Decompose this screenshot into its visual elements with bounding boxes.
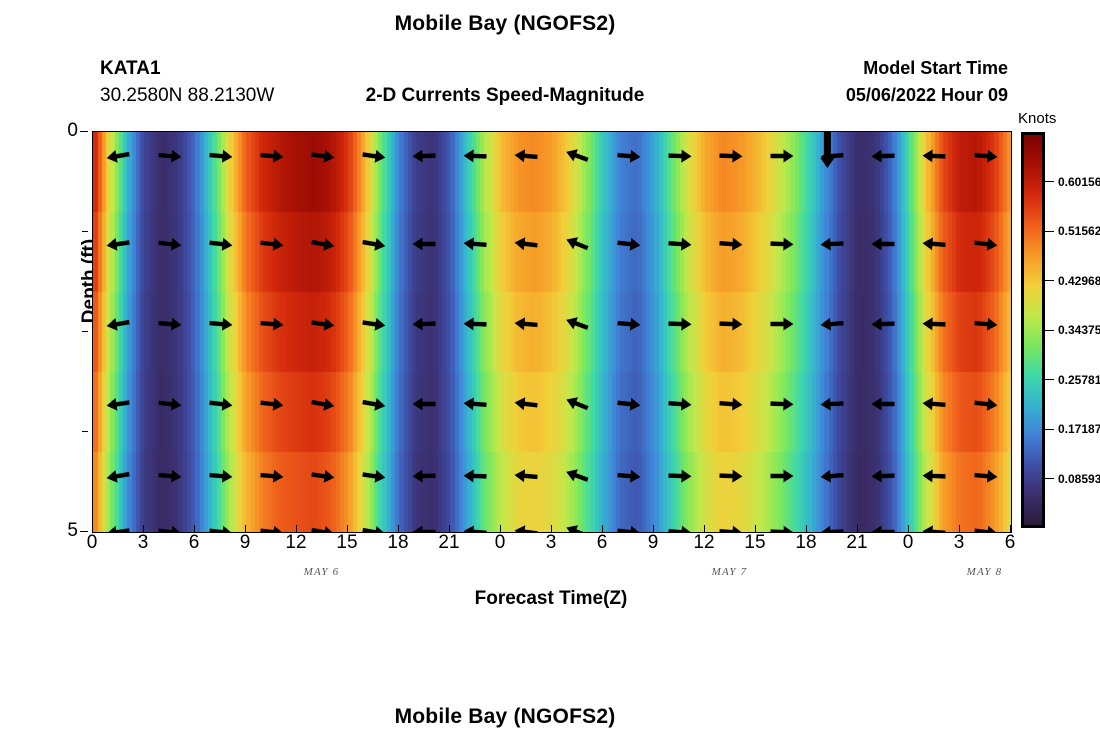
x-tick-label: 9 bbox=[648, 532, 659, 554]
x-tick-mark bbox=[143, 525, 144, 532]
current-vector-arrow bbox=[770, 525, 793, 532]
colorbar-tick-mark bbox=[1045, 379, 1054, 380]
current-vector-arrow bbox=[413, 238, 436, 251]
arrow-glyph bbox=[922, 525, 946, 532]
arrow-glyph bbox=[514, 148, 538, 163]
current-vector-arrow bbox=[974, 524, 998, 532]
arrow-glyph bbox=[564, 521, 590, 532]
current-vector-arrow bbox=[820, 525, 844, 532]
current-vector-arrow bbox=[922, 237, 946, 252]
current-vector-arrow bbox=[514, 148, 538, 163]
current-vector-arrow bbox=[564, 314, 590, 334]
arrow-glyph bbox=[106, 396, 131, 412]
x-axis-day-labels: MAY 6MAY 7MAY 8 bbox=[92, 566, 1010, 582]
current-vector-arrow bbox=[617, 524, 641, 532]
current-vector-arrow bbox=[771, 150, 794, 163]
arrow-glyph bbox=[514, 396, 538, 412]
current-vector-arrow bbox=[158, 396, 182, 412]
arrow-glyph bbox=[106, 316, 131, 333]
current-vector-arrow bbox=[209, 396, 233, 412]
current-vector-arrow bbox=[362, 524, 387, 532]
arrow-glyph bbox=[412, 149, 435, 163]
current-vector-arrow bbox=[209, 236, 233, 252]
arrow-glyph bbox=[820, 469, 844, 484]
arrow-glyph bbox=[463, 469, 486, 483]
arrow-glyph bbox=[719, 317, 742, 331]
arrow-glyph bbox=[668, 149, 691, 163]
current-vector-arrow bbox=[820, 397, 844, 411]
current-vector-arrow bbox=[564, 393, 590, 414]
current-vector-arrow bbox=[872, 398, 895, 411]
arrow-glyph bbox=[668, 525, 692, 532]
arrow-glyph bbox=[771, 150, 794, 163]
arrow-glyph bbox=[106, 468, 131, 485]
current-vector-arrow bbox=[719, 237, 743, 252]
arrow-glyph bbox=[668, 469, 691, 483]
arrow-glyph bbox=[872, 238, 895, 251]
current-vector-arrow bbox=[564, 233, 590, 254]
x-tick-label: 21 bbox=[438, 532, 459, 554]
current-vector-arrow bbox=[209, 524, 233, 532]
current-vector-arrow bbox=[362, 468, 387, 484]
x-tick-label: 9 bbox=[240, 532, 251, 554]
current-vector-arrow bbox=[260, 469, 284, 484]
arrow-glyph bbox=[922, 237, 946, 252]
arrow-glyph bbox=[362, 468, 387, 484]
arrow-glyph bbox=[617, 236, 641, 252]
arrow-glyph bbox=[260, 149, 284, 164]
x-tick-mark bbox=[449, 525, 450, 532]
arrow-glyph bbox=[719, 237, 743, 252]
current-vector-arrow bbox=[564, 521, 590, 532]
arrow-glyph bbox=[362, 396, 387, 413]
current-vector-arrow bbox=[514, 524, 538, 532]
arrow-glyph bbox=[158, 149, 182, 164]
current-vector-arrow bbox=[412, 149, 435, 163]
arrow-glyph bbox=[922, 397, 946, 412]
x-tick-mark bbox=[551, 525, 552, 532]
arrow-glyph bbox=[617, 396, 641, 412]
current-vector-arrow bbox=[974, 469, 998, 484]
arrow-glyph bbox=[311, 236, 336, 253]
colorbar-tick-mark bbox=[1045, 181, 1054, 182]
station-id-label: KATA1 bbox=[100, 58, 161, 80]
current-vector-arrow bbox=[922, 149, 945, 163]
current-vector-arrow bbox=[209, 469, 233, 484]
current-vector-arrow bbox=[719, 317, 742, 331]
arrow-glyph bbox=[311, 148, 336, 164]
x-tick-mark bbox=[857, 525, 858, 532]
current-vector-arrow bbox=[362, 396, 387, 413]
arrow-glyph bbox=[514, 468, 538, 483]
y-tick-mark bbox=[80, 131, 88, 132]
current-vector-arrow bbox=[514, 236, 538, 252]
x-tick-label: 0 bbox=[903, 532, 914, 554]
arrow-glyph bbox=[564, 466, 590, 486]
x-tick-label: 18 bbox=[795, 532, 816, 554]
current-vector-arrow bbox=[820, 237, 844, 251]
current-vector-arrow bbox=[514, 468, 538, 483]
arrow-glyph bbox=[311, 396, 336, 413]
colorbar-tick: 0.17187 bbox=[1045, 422, 1100, 436]
arrow-glyph bbox=[514, 524, 538, 532]
x-tick-mark bbox=[245, 525, 246, 532]
arrow-glyph bbox=[770, 237, 793, 251]
current-vector-arrow bbox=[311, 316, 336, 332]
colorbar-ticks: 0.085930.171870.257810.343750.429680.515… bbox=[1045, 132, 1100, 528]
arrow-glyph bbox=[668, 237, 692, 252]
arrow-glyph bbox=[974, 317, 998, 332]
x-tick-mark bbox=[1010, 525, 1011, 532]
current-vector-arrow bbox=[668, 469, 691, 483]
arrow-glyph bbox=[514, 316, 538, 331]
x-tick-label: 12 bbox=[693, 532, 714, 554]
current-vector-arrow bbox=[260, 396, 284, 412]
next-panel-title: Mobile Bay (NGOFS2) bbox=[0, 705, 1010, 729]
arrow-glyph bbox=[412, 317, 435, 331]
arrow-glyph bbox=[922, 149, 945, 163]
x-tick-label: 18 bbox=[387, 532, 408, 554]
arrow-glyph bbox=[463, 397, 487, 412]
y-tick-label: 5 bbox=[67, 520, 78, 542]
arrow-glyph bbox=[413, 398, 436, 411]
model-start-time-label: Model Start Time bbox=[863, 58, 1008, 79]
arrow-glyph bbox=[974, 396, 998, 412]
current-vector-arrow bbox=[770, 397, 793, 411]
arrow-glyph bbox=[564, 233, 590, 254]
currents-heatmap-plot bbox=[92, 131, 1012, 533]
arrow-glyph bbox=[617, 317, 641, 332]
arrow-glyph bbox=[770, 525, 793, 532]
arrow-glyph bbox=[260, 469, 284, 484]
current-vector-arrow bbox=[106, 524, 131, 532]
arrow-glyph bbox=[564, 146, 590, 166]
current-vector-arrow bbox=[260, 317, 284, 332]
current-vector-arrow bbox=[311, 524, 336, 532]
arrow-glyph bbox=[311, 524, 336, 532]
current-vector-arrow bbox=[463, 317, 486, 331]
arrow-glyph bbox=[260, 396, 284, 412]
currents-plot-page: Mobile Bay (NGOFS2) KATA1 30.2580N 88.21… bbox=[0, 0, 1100, 750]
y-minor-tick-mark bbox=[82, 231, 88, 232]
current-vector-arrow bbox=[974, 149, 998, 164]
arrow-glyph bbox=[771, 470, 794, 483]
x-tick-label: 6 bbox=[189, 532, 200, 554]
arrow-glyph bbox=[106, 236, 131, 252]
colorbar-tick: 0.51562 bbox=[1045, 224, 1100, 238]
current-vector-arrow bbox=[719, 397, 743, 412]
arrow-glyph bbox=[719, 149, 742, 163]
arrow-glyph bbox=[311, 468, 336, 484]
arrow-glyph bbox=[974, 149, 998, 164]
arrow-glyph bbox=[158, 396, 182, 412]
arrow-glyph bbox=[463, 237, 487, 252]
current-vector-arrow bbox=[871, 149, 894, 163]
current-vector-arrow bbox=[412, 469, 435, 483]
colorbar-title: Knots bbox=[1018, 110, 1056, 127]
page-title: Mobile Bay (NGOFS2) bbox=[0, 12, 1010, 36]
arrow-glyph bbox=[820, 317, 844, 332]
x-tick-label: 6 bbox=[597, 532, 608, 554]
current-vector-arrow bbox=[463, 397, 487, 412]
current-vector-arrow bbox=[260, 236, 284, 252]
colorbar-tick-mark bbox=[1045, 231, 1054, 232]
current-vector-arrow bbox=[668, 397, 692, 412]
x-tick-label: 3 bbox=[546, 532, 557, 554]
x-tick-mark bbox=[398, 525, 399, 532]
arrow-glyph bbox=[719, 397, 743, 412]
current-direction-arrows bbox=[93, 132, 1011, 532]
arrow-glyph bbox=[617, 149, 641, 164]
current-vector-arrow bbox=[771, 470, 794, 483]
arrow-glyph bbox=[820, 132, 834, 168]
x-tick-mark bbox=[296, 525, 297, 532]
current-vector-arrow bbox=[158, 469, 182, 484]
x-tick-mark bbox=[806, 525, 807, 532]
current-vector-arrow bbox=[463, 237, 487, 252]
arrow-glyph bbox=[209, 149, 233, 164]
arrow-glyph bbox=[158, 469, 182, 484]
day-label: MAY 8 bbox=[967, 566, 1003, 578]
arrow-glyph bbox=[564, 314, 590, 334]
x-tick-mark bbox=[908, 525, 909, 532]
current-vector-arrow bbox=[260, 149, 284, 164]
current-vector-arrow bbox=[974, 236, 998, 252]
day-label: MAY 7 bbox=[712, 566, 748, 578]
arrow-glyph bbox=[413, 238, 436, 251]
current-vector-arrow bbox=[668, 317, 691, 331]
colorbar-tick: 0.42968 bbox=[1045, 274, 1100, 288]
arrow-glyph bbox=[158, 236, 182, 252]
current-vector-arrow bbox=[463, 525, 487, 532]
current-vector-arrow bbox=[668, 237, 692, 252]
x-tick-mark bbox=[602, 525, 603, 532]
arrow-glyph bbox=[668, 397, 692, 412]
arrow-glyph bbox=[668, 317, 691, 331]
arrow-glyph bbox=[770, 397, 793, 411]
current-vector-arrow bbox=[770, 237, 793, 251]
current-vector-arrow bbox=[771, 318, 794, 331]
day-label: MAY 6 bbox=[304, 566, 340, 578]
colorbar-tick: 0.34375 bbox=[1045, 323, 1100, 337]
y-tick-label: 0 bbox=[67, 120, 78, 142]
current-vector-arrow bbox=[719, 149, 742, 163]
current-vector-arrow bbox=[413, 398, 436, 411]
current-vector-arrow bbox=[668, 525, 692, 532]
colorbar-tick-label: 0.51562 bbox=[1058, 224, 1100, 238]
x-tick-mark bbox=[92, 525, 93, 532]
current-vector-arrow bbox=[362, 148, 387, 164]
colorbar-tick-label: 0.34375 bbox=[1058, 323, 1100, 337]
arrow-glyph bbox=[362, 316, 387, 332]
arrow-glyph bbox=[209, 396, 233, 412]
x-tick-mark bbox=[653, 525, 654, 532]
current-vector-arrow bbox=[311, 148, 336, 164]
arrow-glyph bbox=[158, 524, 182, 532]
x-tick-mark bbox=[194, 525, 195, 532]
current-vector-arrow bbox=[617, 149, 641, 164]
current-vector-arrow bbox=[564, 466, 590, 486]
arrow-glyph bbox=[514, 236, 538, 252]
current-vector-arrow bbox=[311, 396, 336, 413]
arrow-glyph bbox=[871, 469, 894, 483]
x-tick-label: 6 bbox=[1005, 532, 1016, 554]
current-vector-arrow bbox=[158, 236, 182, 252]
arrow-glyph bbox=[719, 469, 742, 483]
current-vector-arrow bbox=[209, 317, 233, 332]
x-tick-label: 15 bbox=[744, 532, 765, 554]
arrow-glyph bbox=[209, 317, 233, 332]
arrow-glyph bbox=[719, 525, 743, 532]
colorbar-tick-label: 0.25781 bbox=[1058, 373, 1100, 387]
current-vector-arrow bbox=[974, 396, 998, 412]
current-vector-arrow bbox=[463, 469, 486, 483]
current-vector-arrow bbox=[871, 469, 894, 483]
current-vector-arrow bbox=[617, 469, 641, 484]
colorbar-tick: 0.60156 bbox=[1045, 175, 1100, 189]
current-vector-arrow bbox=[106, 236, 131, 252]
arrow-glyph bbox=[260, 236, 284, 252]
x-axis-ticks: 036912151821036912151821036 bbox=[92, 532, 1010, 558]
colorbar-tick-label: 0.17187 bbox=[1058, 422, 1100, 436]
arrow-glyph bbox=[463, 149, 486, 163]
current-vector-arrow-vertical bbox=[820, 132, 834, 168]
current-vector-arrow bbox=[719, 469, 742, 483]
arrow-glyph bbox=[463, 317, 486, 331]
x-tick-label: 0 bbox=[87, 532, 98, 554]
arrow-glyph bbox=[871, 317, 894, 331]
arrow-glyph bbox=[771, 318, 794, 331]
arrow-glyph bbox=[922, 317, 945, 331]
current-vector-arrow bbox=[922, 317, 945, 331]
current-vector-arrow bbox=[463, 149, 486, 163]
colorbar-tick-mark bbox=[1045, 330, 1054, 331]
arrow-glyph bbox=[362, 236, 387, 253]
colorbar-tick-mark bbox=[1045, 429, 1054, 430]
x-tick-label: 3 bbox=[954, 532, 965, 554]
arrow-glyph bbox=[362, 524, 387, 532]
current-vector-arrow bbox=[412, 317, 435, 331]
colorbar-tick-mark bbox=[1045, 280, 1054, 281]
y-axis-ticks: 05 bbox=[40, 131, 88, 531]
current-vector-arrow bbox=[564, 146, 590, 166]
arrow-glyph bbox=[412, 469, 435, 483]
current-vector-arrow bbox=[311, 236, 336, 253]
arrow-glyph bbox=[209, 236, 233, 252]
current-vector-arrow bbox=[871, 317, 894, 331]
colorbar-gradient bbox=[1024, 135, 1042, 525]
x-tick-mark bbox=[704, 525, 705, 532]
colorbar-tick: 0.25781 bbox=[1045, 373, 1100, 387]
current-vector-arrow bbox=[514, 396, 538, 412]
current-vector-arrow bbox=[158, 149, 182, 164]
arrow-glyph bbox=[564, 393, 590, 414]
arrow-glyph bbox=[209, 524, 233, 532]
arrow-glyph bbox=[974, 469, 998, 484]
colorbar-tick-label: 0.08593 bbox=[1058, 472, 1100, 486]
current-vector-arrow bbox=[311, 468, 336, 484]
colorbar-tick-label: 0.42968 bbox=[1058, 274, 1100, 288]
arrow-glyph bbox=[106, 524, 131, 532]
x-tick-mark bbox=[347, 525, 348, 532]
arrow-glyph bbox=[106, 148, 131, 165]
current-vector-arrow bbox=[872, 238, 895, 251]
arrow-glyph bbox=[617, 469, 641, 484]
current-vector-arrow bbox=[617, 396, 641, 412]
current-vector-arrow bbox=[617, 317, 641, 332]
arrow-glyph bbox=[362, 148, 387, 164]
arrow-glyph bbox=[209, 469, 233, 484]
x-tick-label: 0 bbox=[495, 532, 506, 554]
arrow-glyph bbox=[617, 524, 641, 532]
x-tick-label: 12 bbox=[285, 532, 306, 554]
current-vector-arrow bbox=[106, 316, 131, 333]
current-vector-arrow bbox=[820, 317, 844, 332]
current-vector-arrow bbox=[106, 148, 131, 165]
arrow-glyph bbox=[463, 525, 487, 532]
arrow-glyph bbox=[974, 236, 998, 252]
x-tick-label: 15 bbox=[336, 532, 357, 554]
arrow-glyph bbox=[820, 525, 844, 532]
current-vector-arrow bbox=[719, 525, 743, 532]
current-vector-arrow bbox=[362, 236, 387, 253]
current-vector-arrow bbox=[158, 317, 182, 332]
current-vector-arrow bbox=[106, 396, 131, 412]
colorbar-tick-mark bbox=[1045, 478, 1054, 479]
current-vector-arrow bbox=[209, 149, 233, 164]
arrow-glyph bbox=[311, 316, 336, 332]
current-vector-arrow bbox=[362, 316, 387, 332]
arrow-glyph bbox=[820, 397, 844, 411]
arrow-glyph bbox=[820, 237, 844, 251]
x-tick-mark bbox=[755, 525, 756, 532]
current-vector-arrow bbox=[668, 149, 691, 163]
current-vector-arrow bbox=[820, 469, 844, 484]
colorbar-tick: 0.08593 bbox=[1045, 472, 1100, 486]
current-vector-arrow bbox=[922, 525, 946, 532]
y-minor-tick-mark bbox=[82, 431, 88, 432]
x-tick-mark bbox=[959, 525, 960, 532]
current-vector-arrow bbox=[260, 524, 284, 532]
model-start-time-value: 05/06/2022 Hour 09 bbox=[846, 85, 1008, 106]
current-vector-arrow bbox=[514, 316, 538, 331]
colorbar bbox=[1021, 132, 1045, 528]
y-minor-tick-mark bbox=[82, 331, 88, 332]
current-vector-arrow bbox=[922, 469, 945, 483]
arrow-glyph bbox=[974, 524, 998, 532]
x-tick-label: 21 bbox=[846, 532, 867, 554]
current-vector-arrow bbox=[158, 524, 182, 532]
x-tick-mark bbox=[500, 525, 501, 532]
x-tick-label: 3 bbox=[138, 532, 149, 554]
arrow-glyph bbox=[922, 469, 945, 483]
arrow-glyph bbox=[158, 317, 182, 332]
x-axis-title: Forecast Time(Z) bbox=[92, 588, 1010, 610]
colorbar-tick-label: 0.60156 bbox=[1058, 175, 1100, 189]
arrow-glyph bbox=[260, 317, 284, 332]
current-vector-arrow bbox=[974, 317, 998, 332]
current-vector-arrow bbox=[106, 468, 131, 485]
current-vector-arrow bbox=[922, 397, 946, 412]
current-vector-arrow bbox=[617, 236, 641, 252]
arrow-glyph bbox=[260, 524, 284, 532]
arrow-glyph bbox=[871, 149, 894, 163]
arrow-glyph bbox=[872, 398, 895, 411]
